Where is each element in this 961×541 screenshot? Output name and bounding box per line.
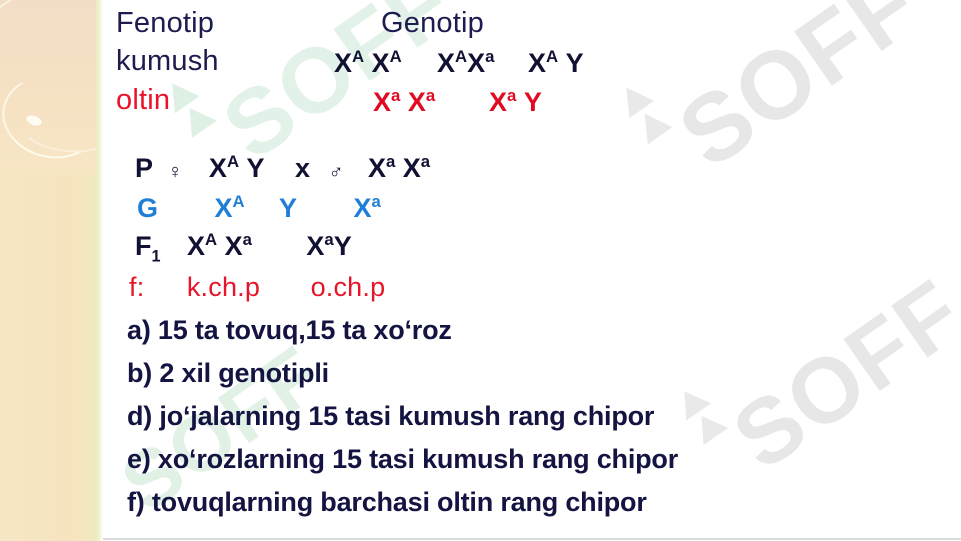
cross-row-parents: P ♀ XA Y x ♂ Xa Xa bbox=[135, 152, 430, 184]
answer-text: xo‘rozlarning 15 tasi kumush rang chipor bbox=[151, 444, 678, 474]
phenotype-row-kumush: kumush bbox=[116, 45, 219, 78]
header-phenotype: Fenotip bbox=[116, 7, 214, 40]
answer-option-a[interactable]: a) 15 ta tovuq,15 ta xo‘roz bbox=[127, 315, 452, 346]
phenotype-row-oltin: oltin bbox=[116, 84, 170, 117]
gamete-mother-2: Y bbox=[279, 193, 297, 223]
gamete-father: Xa bbox=[354, 193, 381, 223]
cross-row-f1: F1 XA Xa XaY bbox=[135, 230, 352, 266]
cross-row-gametes: G XA Y Xa bbox=[137, 192, 381, 224]
bottom-divider bbox=[103, 538, 961, 540]
genotype-kumush-heterozygous: XAXa bbox=[437, 47, 494, 79]
answer-option-f[interactable]: f) tovuqlarning barchasi oltin rang chip… bbox=[127, 487, 647, 518]
answer-text: 15 ta tovuq,15 ta xo‘roz bbox=[151, 315, 452, 345]
f1-genotype-male: XaY bbox=[306, 231, 351, 261]
answer-paren: ) bbox=[142, 315, 151, 345]
genotype-text: Xa Y bbox=[489, 87, 542, 117]
f1-genotype-female: XA Xa bbox=[187, 231, 252, 261]
f-result-right: o.ch.p bbox=[311, 272, 386, 302]
f-result-left: k.ch.p bbox=[187, 272, 260, 302]
parent-father-genotype: Xa Xa bbox=[368, 153, 430, 183]
slide-canvas: SOFF SOFF SOFF SOFF Fenotip Genotip kumu… bbox=[0, 0, 961, 541]
genotype-text: XA XA bbox=[334, 48, 402, 78]
header-genotype-label: Genotip bbox=[381, 7, 484, 39]
f-label: f: bbox=[129, 272, 144, 302]
parent-generation-label: P bbox=[135, 153, 153, 183]
gamete-mother-1: XA bbox=[214, 193, 244, 223]
genotype-oltin-male: Xa Y bbox=[489, 86, 542, 118]
cross-symbol: x bbox=[295, 153, 310, 183]
answer-paren: ) bbox=[136, 487, 145, 517]
phenotype-label-oltin: oltin bbox=[116, 84, 170, 116]
answer-option-b[interactable]: b) 2 xil genotipli bbox=[127, 358, 329, 389]
answer-paren: ) bbox=[143, 401, 152, 431]
slide-content: Fenotip Genotip kumush XA XA XAXa XA Y o… bbox=[103, 0, 961, 541]
genotype-kumush-male: XA Y bbox=[528, 47, 584, 79]
decorative-left-band bbox=[0, 0, 103, 541]
genotype-text: XAXa bbox=[437, 48, 494, 78]
answer-marker: b bbox=[127, 358, 143, 388]
male-symbol-icon: ♂ bbox=[328, 161, 343, 183]
answer-marker: a bbox=[127, 315, 142, 345]
answer-marker: d bbox=[127, 401, 143, 431]
answer-text: tovuqlarning barchasi oltin rang chipor bbox=[145, 487, 647, 517]
female-symbol-icon: ♀ bbox=[167, 161, 182, 183]
answer-text: 2 xil genotipli bbox=[152, 358, 329, 388]
genotype-oltin-female: Xa Xa bbox=[373, 86, 435, 118]
answer-option-d[interactable]: d) jo‘jalarning 15 tasi kumush rang chip… bbox=[127, 401, 654, 432]
cross-row-phenotype-result: f: k.ch.p o.ch.p bbox=[129, 272, 385, 303]
answer-text: jo‘jalarning 15 tasi kumush rang chipor bbox=[152, 401, 654, 431]
answer-paren: ) bbox=[142, 444, 151, 474]
header-genotype: Genotip bbox=[381, 7, 484, 40]
header-phenotype-label: Fenotip bbox=[116, 7, 214, 39]
f1-label: F1 bbox=[135, 231, 161, 261]
genotype-text: XA Y bbox=[528, 48, 584, 78]
gamete-label: G bbox=[137, 193, 158, 223]
band-edge-stripe bbox=[96, 0, 103, 541]
answer-marker: e bbox=[127, 444, 142, 474]
answer-marker: f bbox=[127, 487, 136, 517]
phenotype-label-kumush: kumush bbox=[116, 45, 219, 77]
genotype-text: Xa Xa bbox=[373, 87, 435, 117]
genotype-kumush-homozygous: XA XA bbox=[334, 47, 402, 79]
answer-option-e[interactable]: e) xo‘rozlarning 15 tasi kumush rang chi… bbox=[127, 444, 678, 475]
parent-mother-genotype: XA Y bbox=[209, 153, 265, 183]
answer-paren: ) bbox=[143, 358, 152, 388]
